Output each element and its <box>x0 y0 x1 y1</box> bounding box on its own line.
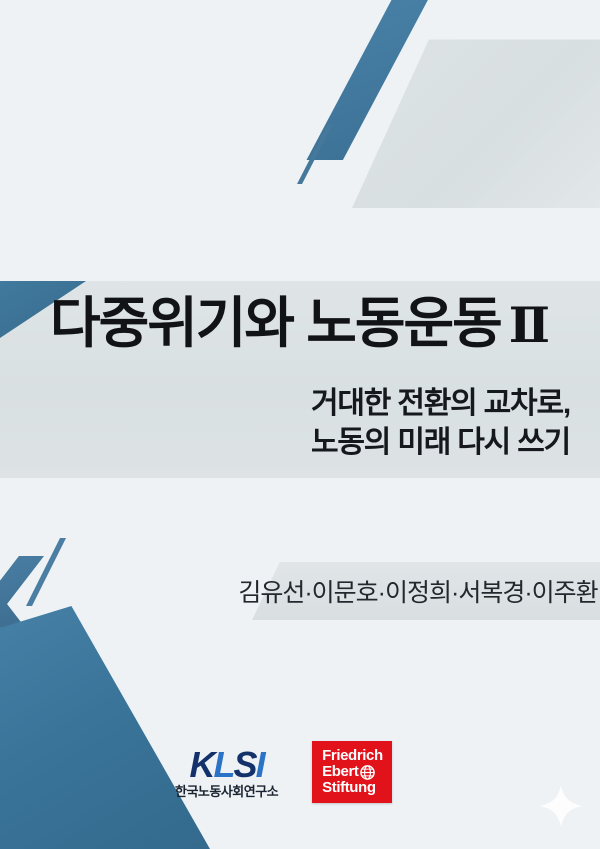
publisher-logos: KLSI 한국노동사회연구소 Friedrich Ebert <box>175 736 435 808</box>
fes-line-2: Ebert <box>322 764 358 780</box>
subtitle-line-1: 거대한 전환의 교차로, <box>311 384 570 423</box>
fes-wordmark: Friedrich Ebert Stiftung <box>322 748 383 797</box>
title-volume-numeral: Ⅱ <box>509 298 550 353</box>
page-title: 다중위기와 노동운동Ⅱ <box>0 294 600 353</box>
klsi-korean-name: 한국노동사회연구소 <box>175 785 278 798</box>
bottom-left-blue-triangle <box>0 606 210 849</box>
fes-line-1: Friedrich <box>322 748 383 764</box>
fes-line-3-row: Stiftung <box>322 780 383 796</box>
fes-line-2-row: Ebert <box>322 764 383 780</box>
klsi-wordmark: KLSI <box>190 747 264 783</box>
book-cover: 다중위기와 노동운동Ⅱ 거대한 전환의 교차로, 노동의 미래 다시 쓰기 김유… <box>0 0 600 849</box>
fes-line-3: Stiftung <box>322 780 375 796</box>
subtitle-block: 거대한 전환의 교차로, 노동의 미래 다시 쓰기 <box>311 384 570 462</box>
subtitle-line-2: 노동의 미래 다시 쓰기 <box>311 423 570 462</box>
author-list: 김유선·이문호·이정희·서복경·이주환 <box>252 562 584 620</box>
klsi-logo: KLSI 한국노동사회연구소 <box>175 747 278 798</box>
klsi-letter-i: I <box>256 744 264 785</box>
klsi-letter-l: L <box>214 744 234 785</box>
mid-left-thin-blue-line <box>26 538 66 606</box>
sparkle-icon <box>538 783 584 829</box>
klsi-letter-k: K <box>190 744 214 785</box>
klsi-letter-s: S <box>234 744 256 785</box>
fes-line-1-row: Friedrich <box>322 748 383 764</box>
fes-logo: Friedrich Ebert Stiftung <box>312 741 392 804</box>
globe-icon <box>360 765 375 780</box>
title-korean: 다중위기와 노동운동 <box>50 292 501 354</box>
title-block: 다중위기와 노동운동Ⅱ <box>0 294 600 353</box>
